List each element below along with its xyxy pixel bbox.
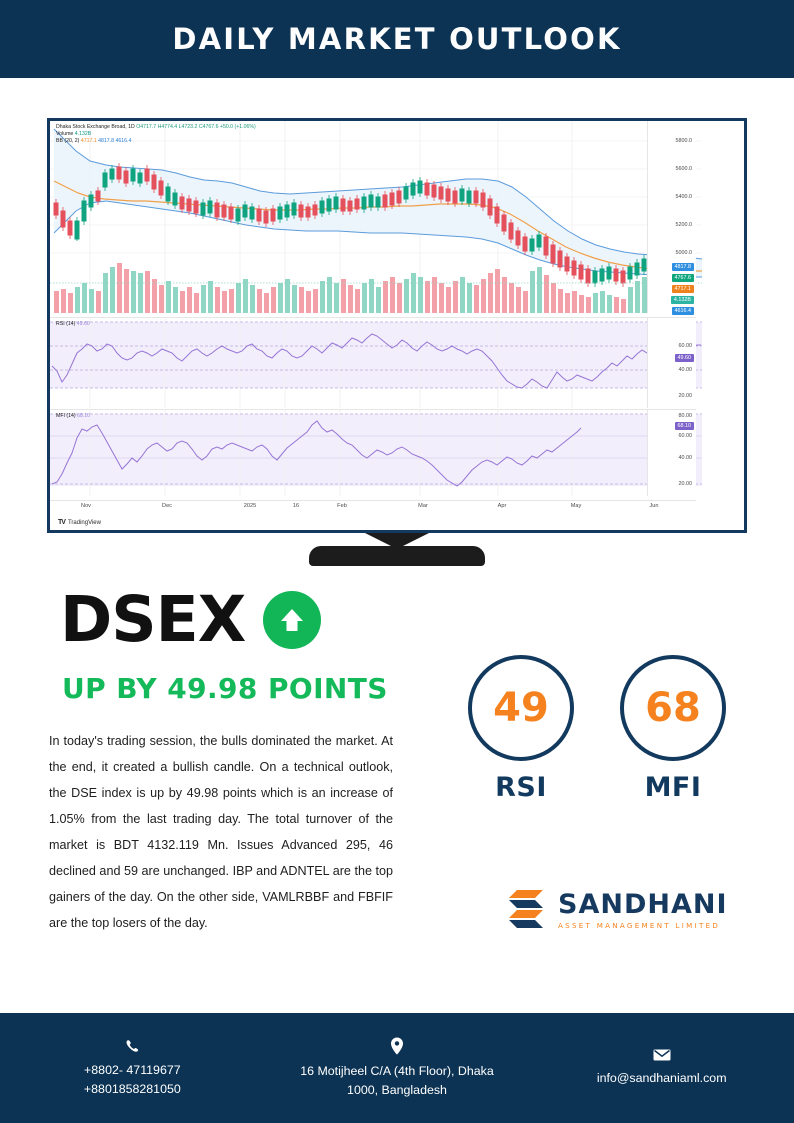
rsi-tick: 60.00 bbox=[679, 343, 693, 349]
footer-address: 16 Motijheel C/A (4th Floor), Dhaka 1000… bbox=[265, 1037, 530, 1100]
dsex-subtitle: UP BY 49.98 POINTS bbox=[62, 672, 388, 705]
gauge-rsi-label: RSI bbox=[495, 772, 547, 803]
footer-phone-line1: +8802- 47119677 bbox=[84, 1061, 181, 1080]
location-pin-icon bbox=[390, 1037, 404, 1055]
footer-address-line1: 16 Motijheel C/A (4th Floor), Dhaka bbox=[300, 1062, 494, 1081]
sandhani-logo-tagline: ASSET MANAGEMENT LIMITED bbox=[558, 922, 728, 929]
price-legend: Dhaka Stock Exchange Broad, 1D O4717.7 H… bbox=[56, 124, 256, 146]
mfi-chart-svg bbox=[50, 410, 702, 496]
rsi-chart-svg bbox=[50, 318, 702, 408]
footer-address-line2: 1000, Bangladesh bbox=[347, 1081, 447, 1100]
sandhani-logo-text: SANDHANI ASSET MANAGEMENT LIMITED bbox=[558, 891, 728, 929]
chart-pane-rsi: RSI (14) 49.60 60.00 40.00 20.00 49.60 bbox=[50, 317, 696, 408]
rsi-legend-value: 49.60 bbox=[77, 321, 90, 327]
footer-phone-line2: +8801858281050 bbox=[84, 1080, 181, 1099]
tradingview-mark-icon: TV bbox=[58, 519, 65, 526]
chart-pane-price: Dhaka Stock Exchange Broad, 1D O4717.7 H… bbox=[50, 121, 696, 313]
mfi-tick: 20.00 bbox=[679, 481, 693, 487]
legend-open: 4717.7 bbox=[140, 124, 156, 130]
market-summary-text: In today's trading session, the bulls do… bbox=[49, 728, 393, 936]
phone-icon bbox=[124, 1038, 140, 1054]
page-title: DAILY MARKET OUTLOOK bbox=[172, 22, 621, 56]
daily-market-outlook-poster: DAILY MARKET OUTLOOK bbox=[0, 0, 794, 1123]
legend-bb-lower: 4616.4 bbox=[115, 138, 131, 144]
header-bar: DAILY MARKET OUTLOOK bbox=[0, 0, 794, 78]
mfi-tick: 80.00 bbox=[679, 413, 693, 419]
tradingview-label: TradingView bbox=[68, 520, 101, 526]
tradingview-chart[interactable]: Dhaka Stock Exchange Broad, 1D O4717.7 H… bbox=[50, 121, 744, 530]
badge-volume: 4.132B bbox=[671, 296, 694, 304]
gauge-rsi-circle: 49 bbox=[468, 655, 574, 761]
time-axis[interactable]: Nov Dec 2025 16 Feb Mar Apr May Jun bbox=[50, 500, 696, 514]
dsex-ticker: DSEX bbox=[60, 588, 245, 651]
gauge-mfi-circle: 68 bbox=[620, 655, 726, 761]
gauge-mfi-label: MFI bbox=[645, 772, 702, 803]
price-tick: 5800.0 bbox=[676, 138, 693, 144]
monitor-stand-base bbox=[309, 546, 485, 566]
price-tick: 5200.0 bbox=[676, 222, 693, 228]
gauge-mfi: 68 MFI bbox=[620, 655, 726, 803]
mfi-axis[interactable]: 80.00 60.00 40.00 20.00 68.10 bbox=[647, 410, 696, 496]
monitor-screen: Dhaka Stock Exchange Broad, 1D O4717.7 H… bbox=[47, 118, 747, 533]
arrow-up-icon bbox=[263, 591, 321, 649]
price-tick: 5000.0 bbox=[676, 250, 693, 256]
price-chart-svg bbox=[50, 121, 702, 313]
legend-close: 4767.6 bbox=[203, 124, 219, 130]
legend-bb-basis: 4717.1 bbox=[81, 138, 97, 144]
gauge-rsi-value: 49 bbox=[493, 685, 549, 731]
rsi-tick: 20.00 bbox=[679, 393, 693, 399]
badge-bb-upper: 4817.8 bbox=[672, 263, 695, 271]
time-tick: May bbox=[571, 503, 582, 509]
legend-high: 4774.4 bbox=[161, 124, 177, 130]
mfi-legend-value: 68.10 bbox=[77, 413, 90, 419]
footer-email: info@sandhaniaml.com bbox=[529, 1048, 794, 1088]
price-tick: 5400.0 bbox=[676, 194, 693, 200]
footer-bar: +8802- 47119677 +8801858281050 16 Motijh… bbox=[0, 1013, 794, 1123]
legend-low: 4723.2 bbox=[182, 124, 198, 130]
time-tick: 2025 bbox=[244, 503, 256, 509]
time-tick: Nov bbox=[81, 503, 91, 509]
rsi-legend: RSI (14) 49.60 bbox=[56, 321, 90, 328]
sandhani-logo-mark-icon bbox=[503, 886, 549, 934]
badge-close: 4767.6 bbox=[672, 274, 695, 282]
dsex-headline: DSEX bbox=[60, 588, 321, 651]
footer-email-line1: info@sandhaniaml.com bbox=[597, 1069, 727, 1088]
gauge-rsi: 49 RSI bbox=[468, 655, 574, 803]
time-tick: Mar bbox=[418, 503, 428, 509]
time-tick: Jun bbox=[649, 503, 658, 509]
price-axis[interactable]: 5800.0 5600.0 5400.0 5200.0 5000.0 4817.… bbox=[647, 121, 696, 313]
chart-pane-mfi: MFI (14) 68.10 80.00 60.00 40.00 20.00 6… bbox=[50, 409, 696, 496]
mfi-legend: MFI (14) 68.10 bbox=[56, 413, 90, 420]
badge-rsi: 49.60 bbox=[675, 354, 695, 362]
footer-phone: +8802- 47119677 +8801858281050 bbox=[0, 1038, 265, 1099]
arrow-up-glyph bbox=[277, 605, 307, 635]
mfi-tick: 60.00 bbox=[679, 433, 693, 439]
mfi-legend-label: MFI (14) bbox=[56, 413, 76, 419]
time-tick: Apr bbox=[498, 503, 507, 509]
gauge-mfi-value: 68 bbox=[645, 685, 701, 731]
badge-bb-basis: 4717.1 bbox=[672, 285, 695, 293]
badge-bb-lower: 4616.4 bbox=[672, 307, 695, 315]
rsi-tick: 40.00 bbox=[679, 367, 693, 373]
legend-symbol: Dhaka Stock Exchange Broad, 1D bbox=[56, 124, 135, 130]
indicator-gauges: 49 RSI 68 MFI bbox=[468, 655, 726, 803]
mfi-tick: 40.00 bbox=[679, 455, 693, 461]
rsi-axis[interactable]: 60.00 40.00 20.00 49.60 bbox=[647, 318, 696, 408]
time-tick: Dec bbox=[162, 503, 172, 509]
time-tick: 16 bbox=[293, 503, 299, 509]
legend-change: +50.0 (+1.06%) bbox=[220, 124, 256, 130]
tradingview-watermark[interactable]: TV TradingView bbox=[58, 519, 101, 526]
monitor-mockup: Dhaka Stock Exchange Broad, 1D O4717.7 H… bbox=[47, 118, 747, 538]
legend-volume-label: Volume bbox=[56, 131, 73, 137]
legend-bb-label: BB (20, 2) bbox=[56, 138, 79, 144]
legend-bb-upper: 4817.8 bbox=[98, 138, 114, 144]
badge-mfi: 68.10 bbox=[675, 422, 695, 430]
envelope-icon bbox=[653, 1048, 671, 1062]
sandhani-logo-name: SANDHANI bbox=[558, 891, 728, 918]
time-tick: Feb bbox=[337, 503, 347, 509]
sandhani-logo: SANDHANI ASSET MANAGEMENT LIMITED bbox=[503, 886, 728, 934]
legend-volume-value: 4.132B bbox=[75, 131, 91, 137]
price-tick: 5600.0 bbox=[676, 166, 693, 172]
rsi-legend-label: RSI (14) bbox=[56, 321, 75, 327]
